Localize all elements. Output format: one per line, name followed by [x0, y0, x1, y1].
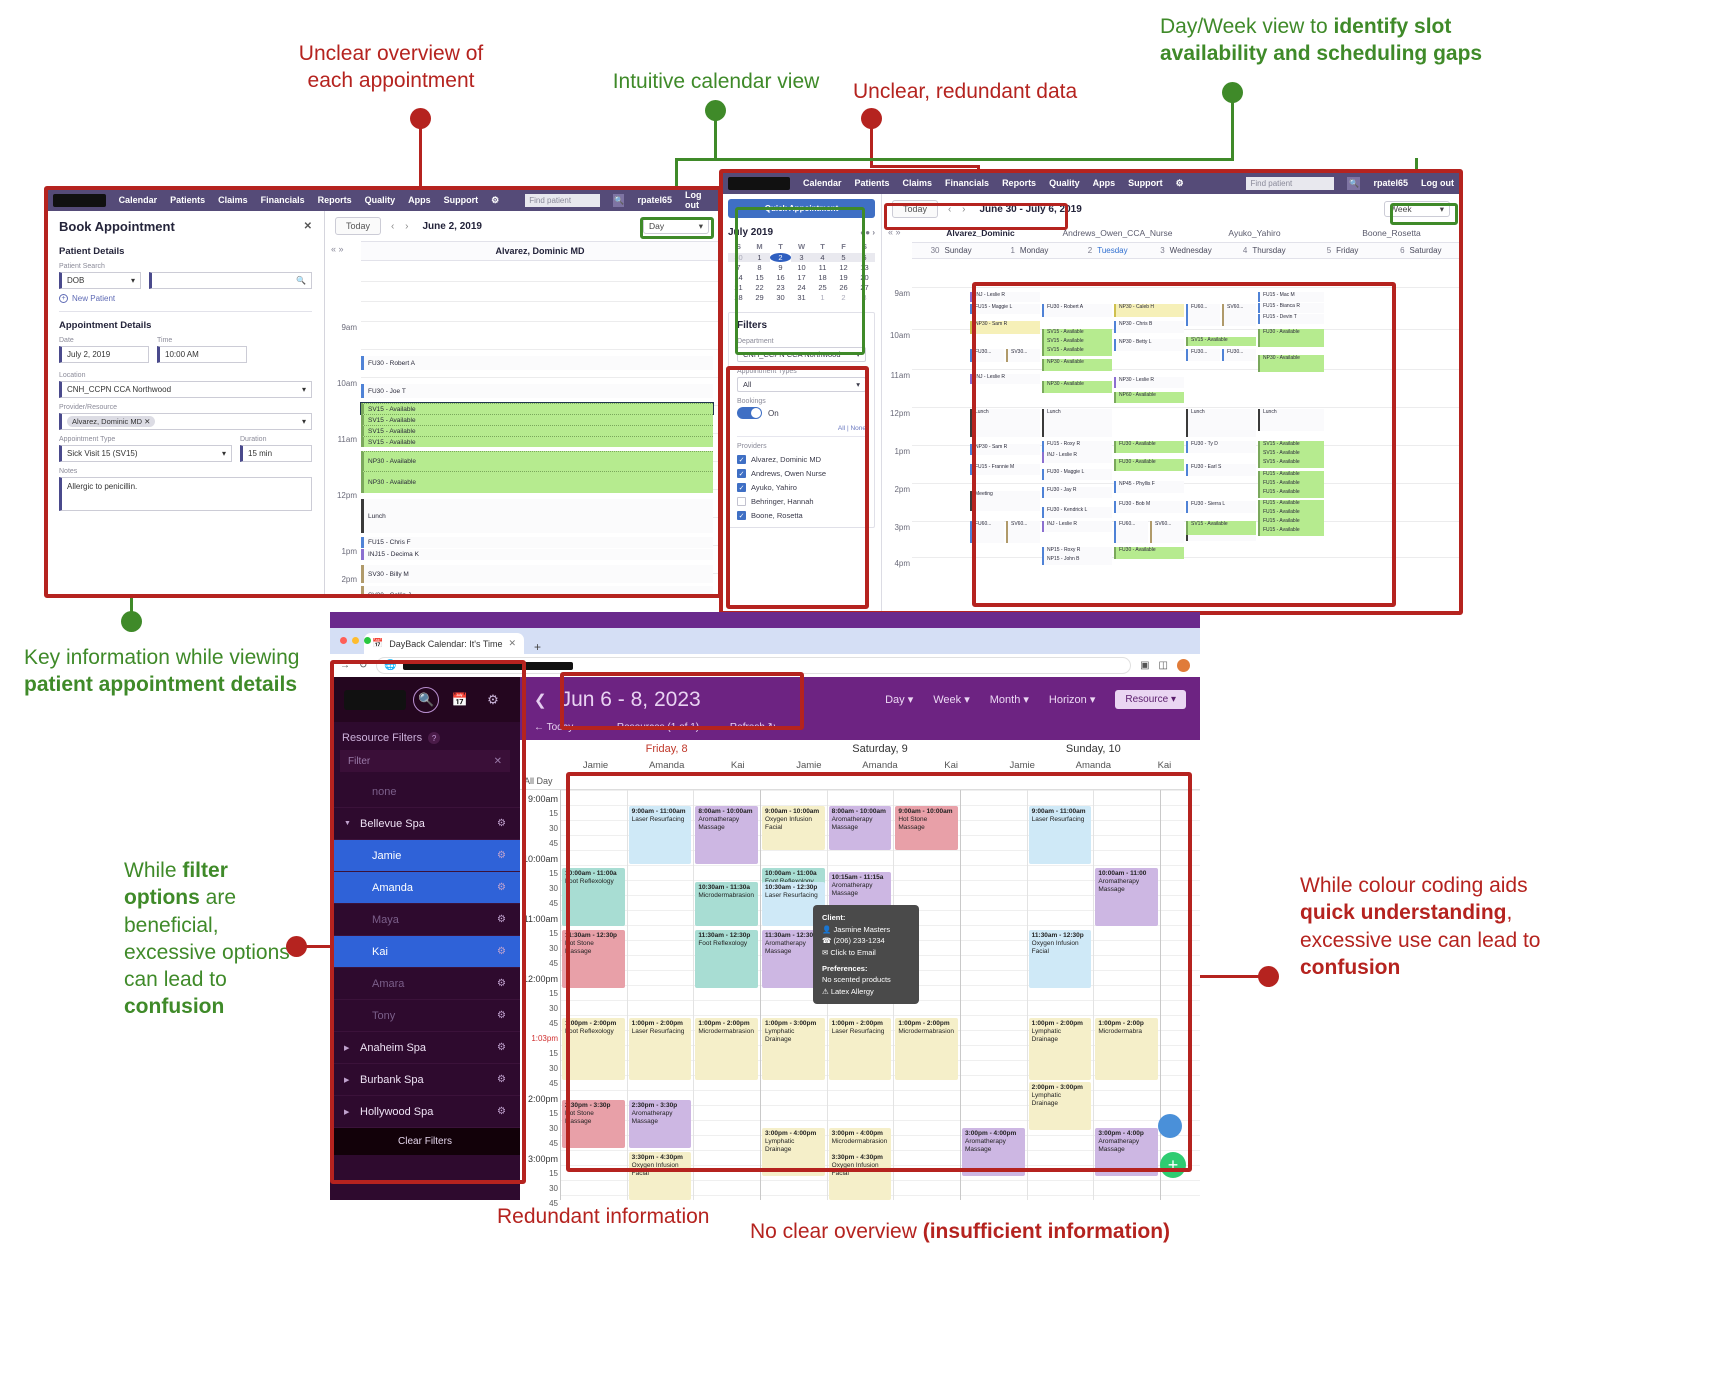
highlight-date-range — [884, 203, 1068, 230]
puzzle-icon[interactable]: ▣ — [1140, 660, 1149, 671]
dayback-day-header[interactable]: Saturday, 9 — [773, 740, 986, 758]
plus-icon[interactable]: + — [534, 640, 541, 654]
annotation-line-2 — [714, 110, 717, 160]
view-switcher: Day ▾ Week ▾ Month ▾ Horizon ▾ Resource … — [885, 690, 1186, 709]
view-month[interactable]: Month ▾ — [990, 693, 1029, 706]
client-label: Client: — [822, 913, 845, 922]
dayback-resource-header[interactable]: Jamie — [560, 758, 631, 773]
dayback-resource-header[interactable]: Kai — [702, 758, 773, 773]
browser-tab-strip: 📅 DayBack Calendar: It's Time ✕ + — [330, 628, 1200, 654]
annotation-unclear-overview: Unclear overview of each appointment — [276, 40, 506, 95]
calendar-icon: 📅 — [372, 638, 383, 649]
column-separator — [560, 790, 561, 1200]
preference-1: No scented products — [822, 974, 910, 986]
warning-icon: ⚠ — [822, 987, 829, 996]
highlight-week-selector — [1390, 203, 1458, 225]
annotation-text: Unclear overview of each appointment — [299, 42, 483, 92]
annotation-unclear-redundant: Unclear, redundant data — [853, 78, 1091, 105]
avatar-icon[interactable] — [1177, 659, 1190, 672]
time-label: 30 — [520, 1184, 558, 1193]
annotation-text: Unclear, redundant data — [853, 80, 1077, 103]
resource-button[interactable]: Resource ▾ — [1115, 690, 1186, 709]
close-icon[interactable]: ✕ — [508, 638, 516, 649]
client-name: Jasmine Masters — [833, 925, 890, 934]
client-name-row: 👤 Jasmine Masters — [822, 924, 910, 936]
highlight-day-selector — [640, 217, 714, 239]
annotation-text-lead: Key information while viewing — [24, 646, 299, 669]
highlight-dayback-title — [560, 672, 804, 730]
dayback-resource-header[interactable]: Jamie — [987, 758, 1058, 773]
highlight-week-grid — [972, 282, 1396, 607]
phone-icon: ☎ — [822, 936, 831, 945]
annotation-text: Intuitive calendar view — [613, 70, 820, 93]
annotation-intuitive-calendar: Intuitive calendar view — [602, 68, 830, 95]
dayback-resource-header[interactable]: Amanda — [844, 758, 915, 773]
highlight-filters — [726, 366, 869, 609]
time-label: 45 — [520, 1199, 558, 1208]
annotation-text: Redundant information — [497, 1205, 709, 1228]
client-email: Click to Email — [830, 948, 875, 957]
day-headers: Friday, 8Saturday, 9Sunday, 10JamieAmand… — [520, 740, 1200, 773]
event-tooltip: Client: 👤 Jasmine Masters ☎ (206) 233-12… — [813, 905, 919, 1004]
view-week[interactable]: Week ▾ — [933, 693, 970, 706]
preference-2: Latex Allergy — [831, 987, 874, 996]
highlight-box-shot1 — [44, 186, 722, 598]
client-phone: (206) 233-1234 — [833, 936, 884, 945]
annotation-no-clear-overview: No clear overview (insufficient informat… — [750, 1218, 1190, 1245]
all-day-label: All Day — [520, 773, 560, 789]
browser-top-strip — [330, 612, 1200, 628]
annotation-text-lead: No clear overview — [750, 1220, 923, 1243]
annotation-text-bold-2: confusion — [124, 995, 224, 1018]
person-icon: 👤 — [822, 925, 831, 934]
annotation-text-lead: While colour coding aids — [1300, 874, 1528, 897]
mail-icon: ✉ — [822, 948, 828, 957]
view-horizon[interactable]: Horizon ▾ — [1049, 693, 1095, 706]
highlight-minicalendar — [735, 207, 865, 355]
dayback-resource-header[interactable]: Jamie — [773, 758, 844, 773]
annotation-line-4b — [675, 158, 1234, 161]
annotation-colour-coding: While colour coding aids quick understan… — [1300, 872, 1545, 981]
annotation-line-7 — [1190, 975, 1264, 978]
annotation-text-lead: Day/Week view to — [1160, 15, 1334, 38]
maximize-window-dot[interactable] — [364, 637, 371, 644]
close-window-dot[interactable] — [340, 637, 347, 644]
view-day[interactable]: Day ▾ — [885, 693, 913, 706]
annotation-filter-options: While filter options are beneficial, exc… — [124, 857, 299, 1021]
browser-tab[interactable]: 📅 DayBack Calendar: It's Time ✕ — [364, 633, 524, 654]
annotation-dayweek-view: Day/Week view to identify slot availabil… — [1160, 13, 1530, 68]
dayback-resource-header[interactable]: Kai — [1129, 758, 1200, 773]
infographic-page: Unclear overview of each appointment Int… — [0, 0, 1734, 1396]
client-email-row[interactable]: ✉ Click to Email — [822, 947, 910, 959]
preferences-label: Preferences: — [822, 964, 867, 973]
annotation-text-bold: patient appointment details — [24, 673, 297, 696]
window-controls[interactable] — [340, 637, 371, 644]
annotation-text-bold-1: quick understanding — [1300, 901, 1507, 924]
split-icon[interactable]: ◫ — [1159, 660, 1168, 671]
highlight-resource-filters — [330, 660, 526, 1184]
dayback-day-header[interactable]: Friday, 8 — [560, 740, 773, 758]
annotation-line-3b — [870, 165, 980, 168]
preference-2-row: ⚠ Latex Allergy — [822, 986, 910, 998]
dayback-resource-header[interactable]: Kai — [916, 758, 987, 773]
dayback-resource-header[interactable]: Amanda — [631, 758, 702, 773]
dayback-day-header[interactable]: Sunday, 10 — [987, 740, 1200, 758]
annotation-text-bold-2: confusion — [1300, 956, 1400, 979]
annotation-key-info: Key information while viewing patient ap… — [24, 644, 324, 699]
chevron-left-icon[interactable]: ❮ — [534, 691, 547, 709]
annotation-text-bold: (insufficient information) — [923, 1220, 1170, 1243]
client-phone-row: ☎ (206) 233-1234 — [822, 935, 910, 947]
dayback-resource-header[interactable]: Amanda — [1058, 758, 1129, 773]
annotation-line-4 — [1231, 92, 1234, 160]
minimize-window-dot[interactable] — [352, 637, 359, 644]
tab-title: DayBack Calendar: It's Time — [389, 639, 502, 649]
annotation-text-lead: While — [124, 859, 182, 882]
